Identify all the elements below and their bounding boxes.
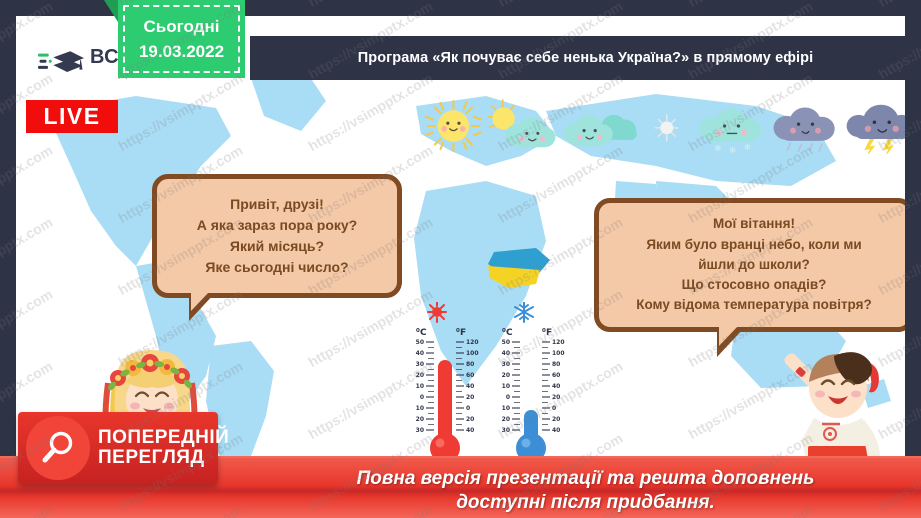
svg-text:20: 20 [466,394,474,401]
svg-text:30: 30 [416,361,424,368]
preview-icon-circle [26,416,90,480]
svg-text:100: 100 [466,350,479,357]
svg-text:10: 10 [502,383,510,390]
bubble-left-line-4: Яке сьогодні число? [205,257,348,278]
svg-text:20: 20 [502,372,510,379]
svg-text:40: 40 [552,383,560,390]
bubble-tail-inner [191,292,209,311]
svg-text:10: 10 [416,383,424,390]
svg-text:✻: ✻ [744,142,751,152]
svg-text:40: 40 [416,350,424,357]
watermark-text: https://vsimpptx.com [305,0,435,10]
svg-text:40: 40 [502,350,510,357]
svg-text:40: 40 [466,383,474,390]
svg-text:0: 0 [552,405,556,412]
watermark-text: https://vsimpptx.com [875,0,921,10]
program-header-bar: Програма «Як почуває себе ненька Україна… [250,36,921,80]
svg-text:20: 20 [552,394,560,401]
speech-bubble-girl: Привіт, друзі! А яка зараз пора року? Як… [152,174,402,298]
bubble-left-line-1: Привіт, друзі! [230,194,324,215]
svg-text:40: 40 [552,427,560,434]
svg-text:30: 30 [502,361,510,368]
sun-icon [428,302,446,322]
banner-line-1: Повна версія презентації та решта доповн… [250,467,921,492]
svg-text:60: 60 [552,372,560,379]
page-title: Програма «Як почуває себе ненька Україна… [358,50,814,66]
clouds-icon [560,98,639,154]
snow-cloud-icon: ✻✻✻ [694,98,768,154]
svg-text:50: 50 [502,339,510,346]
bubble-left-line-3: Який місяць? [230,236,324,257]
sun-behind-cloud-icon [486,98,560,154]
svg-text:20: 20 [416,416,424,423]
ukraine-highlight [488,248,550,288]
svg-text:10: 10 [416,405,424,412]
magnifier-icon [38,428,78,468]
svg-text:30: 30 [502,427,510,434]
svg-text:60: 60 [466,372,474,379]
today-label: Сьогодні [144,14,220,40]
svg-text:⁰C: ⁰C [502,328,513,338]
thunderstorm-cloud-icon [842,98,905,154]
watermark-text: https://vsimpptx.com [495,0,625,10]
svg-text:10: 10 [502,405,510,412]
svg-text:120: 120 [466,339,479,346]
preview-label-line-1: ПОПЕРЕДНІЙ [98,428,229,448]
bubble-right-line-4: Що стосовно опадів? [682,275,827,295]
sun-icon [421,98,486,154]
bubble-tail-inner [719,326,738,346]
bubble-right-line-2: Яким було вранці небо, коли ми [646,235,861,255]
svg-text:⁰F: ⁰F [456,328,466,338]
svg-text:120: 120 [552,339,565,346]
svg-text:20: 20 [466,416,474,423]
svg-text:0: 0 [466,405,470,412]
svg-text:✻: ✻ [729,145,736,154]
today-date-tag: Сьогодні 19.03.2022 [118,0,245,78]
cold-thermometer: ⁰C ⁰F 504030 20100 102030 [502,302,565,463]
svg-text:80: 80 [552,361,560,368]
svg-text:40: 40 [466,427,474,434]
preview-button[interactable]: ПОПЕРЕДНІЙ ПЕРЕГЛЯД [18,412,218,484]
svg-text:20: 20 [552,416,560,423]
banner-line-2: доступні після придбання. [250,491,921,516]
watermark-text: https://vsimpptx.com [0,0,55,10]
watermark-text: https://vsimpptx.com [685,0,815,10]
svg-text:50: 50 [416,339,424,346]
bubble-right-line-5: Кому відома температура повітря? [636,295,872,315]
bubble-right-line-3: йшли до школи? [698,255,810,275]
live-badge-label: LIVE [43,103,100,130]
svg-text:20: 20 [416,372,424,379]
bubble-left-line-2: А яка зараз пора року? [197,215,357,236]
preview-button-label: ПОПЕРЕДНІЙ ПЕРЕГЛЯД [98,428,229,468]
preview-label-line-2: ПЕРЕГЛЯД [98,448,229,468]
svg-text:80: 80 [466,361,474,368]
banner-text: Повна версія презентації та решта доповн… [250,467,921,516]
hot-thermometer: ⁰C ⁰F 504030 20100 102030 [416,302,479,463]
rain-cloud-icon [768,98,842,154]
live-badge: LIVE [26,100,118,133]
today-date: 19.03.2022 [139,39,224,65]
snowflake-icon [515,302,533,322]
svg-text:✻: ✻ [715,143,722,153]
svg-text:⁰F: ⁰F [542,328,552,338]
graduation-cap-icon [38,46,84,78]
svg-text:0: 0 [420,394,424,401]
svg-text:30: 30 [416,427,424,434]
svg-text:100: 100 [552,350,565,357]
svg-text:20: 20 [502,416,510,423]
svg-text:⁰C: ⁰C [416,328,427,338]
speech-bubble-boy: Мої вітання! Яким було вранці небо, коли… [594,198,905,332]
weather-icon-strip: ✻✻✻ [421,98,905,154]
bubble-right-line-1: Мої вітання! [713,214,795,234]
svg-text:0: 0 [506,394,510,401]
small-sun-icon [639,98,695,154]
